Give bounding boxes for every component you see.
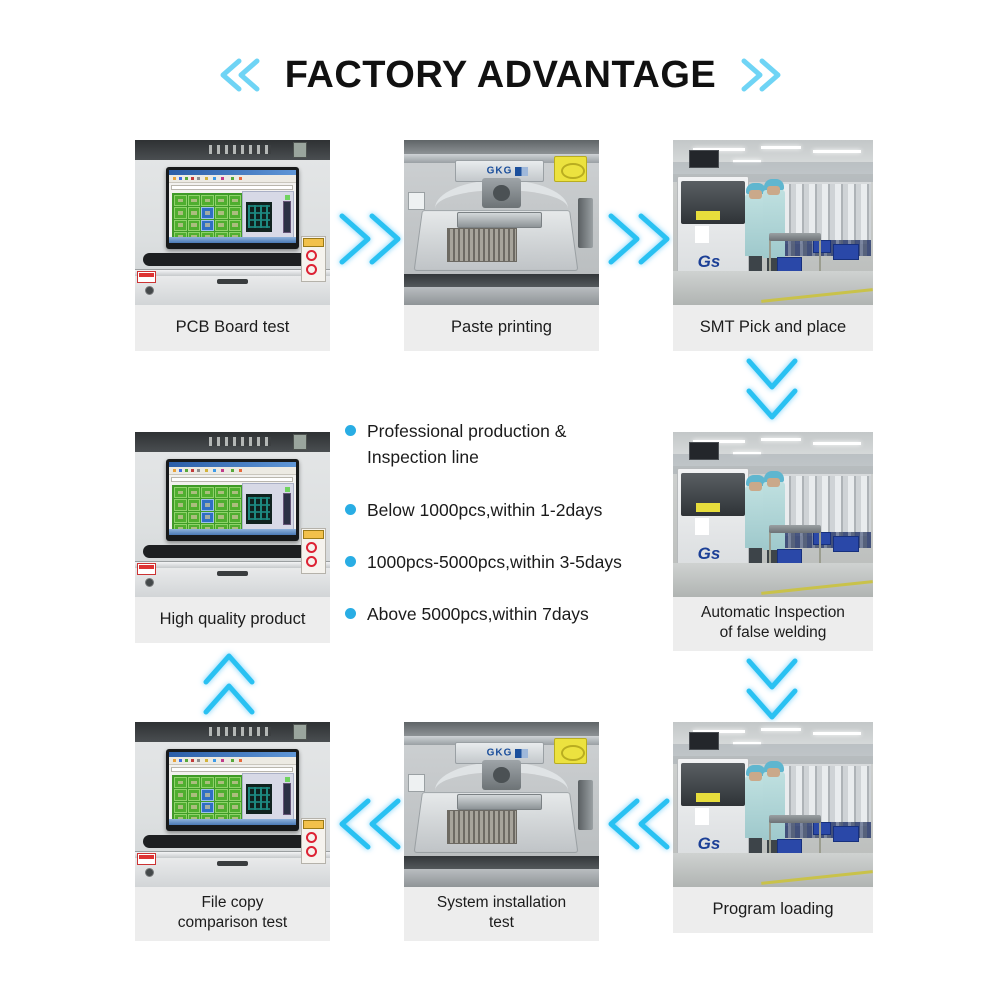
- arrow-row1-a: [336, 208, 404, 270]
- gkg-logo-text: GKG: [487, 748, 513, 759]
- bullet-text: Below 1000pcs,within 1-2days: [367, 497, 602, 523]
- photo-smt-production-line: Gs: [673, 432, 873, 597]
- gs-logo-text: Gs: [698, 252, 721, 272]
- gkg-logo-text: GKG: [487, 166, 513, 177]
- arrow-row3-a: [336, 793, 404, 855]
- arrow-right-down-1: [741, 355, 803, 423]
- bullet-dot-icon: [345, 608, 356, 619]
- photo-aoi-inspection-machine: [135, 140, 330, 305]
- bullet-dot-icon: [345, 556, 356, 567]
- list-item: Above 5000pcs,within 7days: [345, 601, 675, 627]
- photo-smt-production-line: Gs: [673, 722, 873, 887]
- step-card-label-line1: Automatic Inspection: [701, 604, 845, 621]
- factory-advantage-infographic: FACTORY ADVANTAGE: [0, 0, 1001, 1001]
- step-card-program-loading[interactable]: Gs Program loading: [673, 722, 873, 933]
- step-card-pcb-board-test[interactable]: PCB Board test: [135, 140, 330, 351]
- bullet-text-line1: Professional production &: [367, 421, 566, 441]
- step-card-smt-pick-and-place[interactable]: Gs SMT Pick and place: [673, 140, 873, 351]
- bullet-text-line2: Inspection line: [367, 447, 479, 467]
- list-item: Professional production & Inspection lin…: [345, 418, 675, 471]
- step-card-label: High quality product: [135, 597, 330, 643]
- photo-smt-production-line: Gs: [673, 140, 873, 305]
- step-card-label: System installation test: [404, 887, 599, 941]
- step-card-label: Automatic Inspection of false welding: [673, 597, 873, 651]
- bullet-dot-icon: [345, 504, 356, 515]
- arrow-row3-b: [605, 793, 673, 855]
- step-card-label-line2: test: [489, 914, 514, 931]
- photo-aoi-inspection-machine: [135, 722, 330, 887]
- bullet-text: 1000pcs-5000pcs,within 3-5days: [367, 549, 622, 575]
- bullet-text: Above 5000pcs,within 7days: [367, 601, 589, 627]
- double-chevron-left-icon: [217, 55, 263, 95]
- advantage-bullet-list: Professional production & Inspection lin…: [345, 418, 675, 627]
- step-card-label-line2: comparison test: [178, 914, 287, 931]
- step-card-system-installation-test[interactable]: GKG System installation test: [404, 722, 599, 941]
- bullet-dot-icon: [345, 425, 356, 436]
- photo-gkg-paste-printer: GKG: [404, 722, 599, 887]
- step-card-label: PCB Board test: [135, 305, 330, 351]
- gs-logo-text: Gs: [698, 544, 721, 564]
- double-chevron-right-icon: [738, 55, 784, 95]
- step-card-label-line2: of false welding: [720, 624, 827, 641]
- step-card-label: File copy comparison test: [135, 887, 330, 941]
- step-card-label: Program loading: [673, 887, 873, 933]
- step-card-label: SMT Pick and place: [673, 305, 873, 351]
- list-item: Below 1000pcs,within 1-2days: [345, 497, 675, 523]
- step-card-paste-printing[interactable]: GKG Paste printing: [404, 140, 599, 351]
- step-card-automatic-inspection[interactable]: Gs Automatic Inspection of false welding: [673, 432, 873, 651]
- page-title: FACTORY ADVANTAGE: [285, 54, 716, 97]
- arrow-row1-b: [605, 208, 673, 270]
- page-header: FACTORY ADVANTAGE: [0, 44, 1001, 106]
- arrow-right-down-2: [741, 655, 803, 723]
- gs-logo-text: Gs: [698, 834, 721, 854]
- photo-gkg-paste-printer: GKG: [404, 140, 599, 305]
- step-card-high-quality-product[interactable]: High quality product: [135, 432, 330, 643]
- step-card-file-copy-comparison[interactable]: File copy comparison test: [135, 722, 330, 941]
- step-card-label-line1: System installation: [437, 894, 566, 911]
- arrow-left-up: [198, 650, 260, 718]
- list-item: 1000pcs-5000pcs,within 3-5days: [345, 549, 675, 575]
- step-card-label: Paste printing: [404, 305, 599, 351]
- step-card-label-line1: File copy: [201, 894, 263, 911]
- photo-aoi-inspection-machine: [135, 432, 330, 597]
